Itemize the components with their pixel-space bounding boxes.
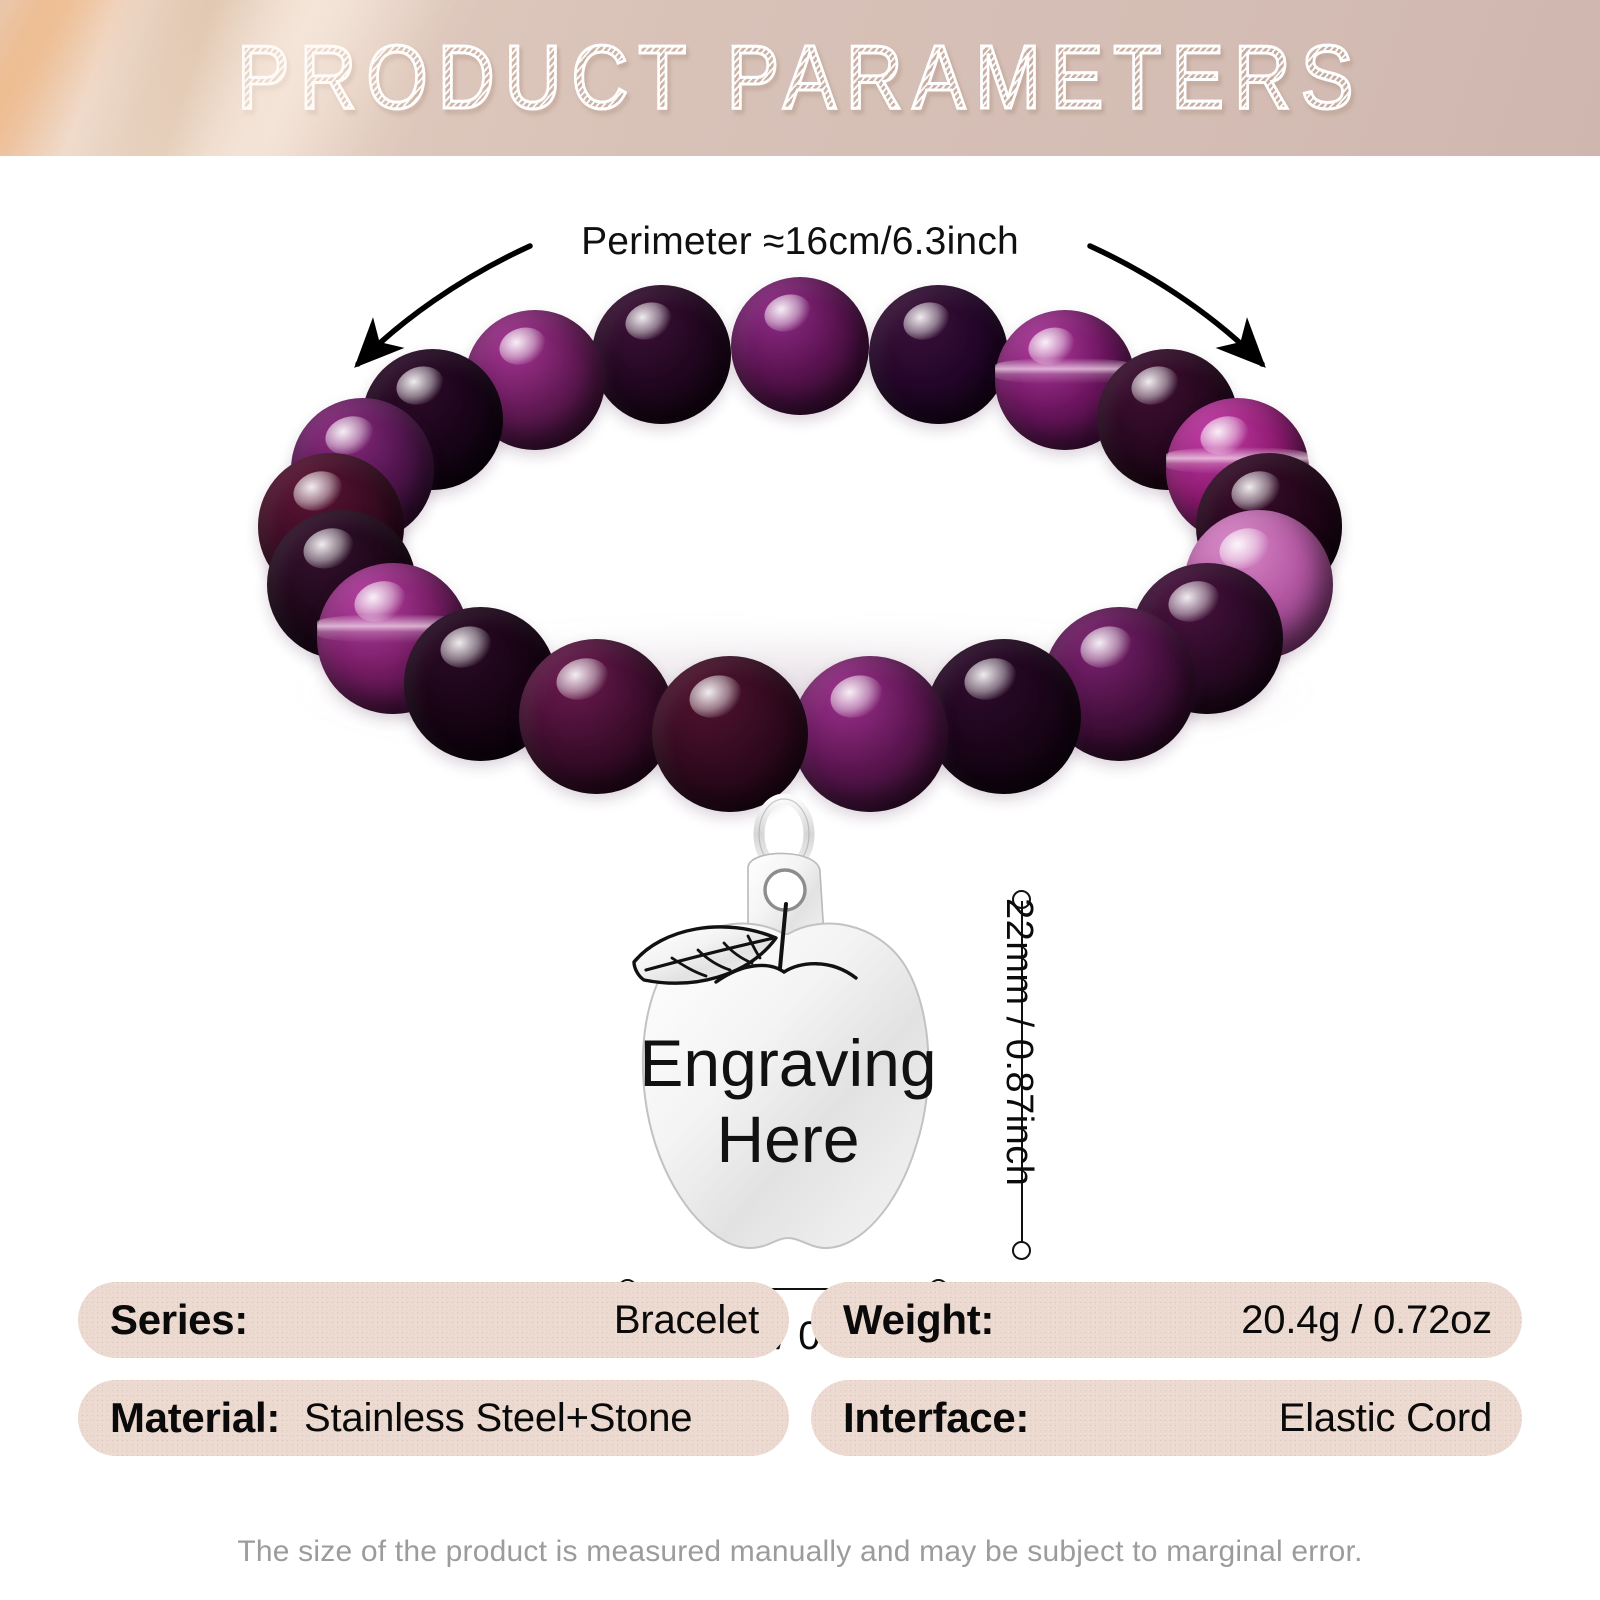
spec-key: Material:: [110, 1394, 280, 1442]
spec-value: Stainless Steel+Stone: [304, 1396, 692, 1441]
bead: [926, 639, 1081, 794]
spec-row: Series: Bracelet Weight: 20.4g / 0.72oz: [0, 1282, 1600, 1358]
spec-row: Material: Stainless Steel+Stone Interfac…: [0, 1380, 1600, 1456]
charm-engraving-line1: Engraving: [639, 1026, 936, 1100]
spec-pill-interface: Interface: Elastic Cord: [811, 1380, 1522, 1456]
spec-key: Interface:: [843, 1394, 1029, 1442]
spec-value: 20.4g / 0.72oz: [1241, 1298, 1492, 1343]
spec-pill-weight: Weight: 20.4g / 0.72oz: [811, 1282, 1522, 1358]
charm-engraving-line2: Here: [716, 1102, 859, 1176]
bead: [592, 285, 730, 423]
perimeter-label: Perimeter ≈16cm/6.3inch: [0, 220, 1600, 264]
bead: [519, 639, 674, 794]
spec-key: Weight:: [843, 1296, 994, 1344]
height-dimension-label: 22mm / 0.87inch: [997, 898, 1040, 1258]
spec-value: Elastic Cord: [1279, 1396, 1492, 1441]
bracelet-beads: [245, 291, 1355, 851]
spec-table: Series: Bracelet Weight: 20.4g / 0.72oz …: [0, 1282, 1600, 1478]
bead: [869, 285, 1007, 423]
spec-pill-material: Material: Stainless Steel+Stone: [78, 1380, 789, 1456]
spec-key: Series:: [110, 1296, 248, 1344]
spec-value: Bracelet: [614, 1298, 759, 1343]
spec-pill-series: Series: Bracelet: [78, 1282, 789, 1358]
apple-charm: Engraving Here: [598, 786, 968, 1286]
disclaimer-footnote: The size of the product is measured manu…: [0, 1535, 1600, 1569]
product-stage: Perimeter ≈16cm/6.3inch: [0, 156, 1600, 1256]
bead: [731, 277, 869, 415]
page-title: PRODUCT PARAMETERS: [96, 33, 1504, 123]
header-banner: PRODUCT PARAMETERS: [0, 0, 1600, 156]
